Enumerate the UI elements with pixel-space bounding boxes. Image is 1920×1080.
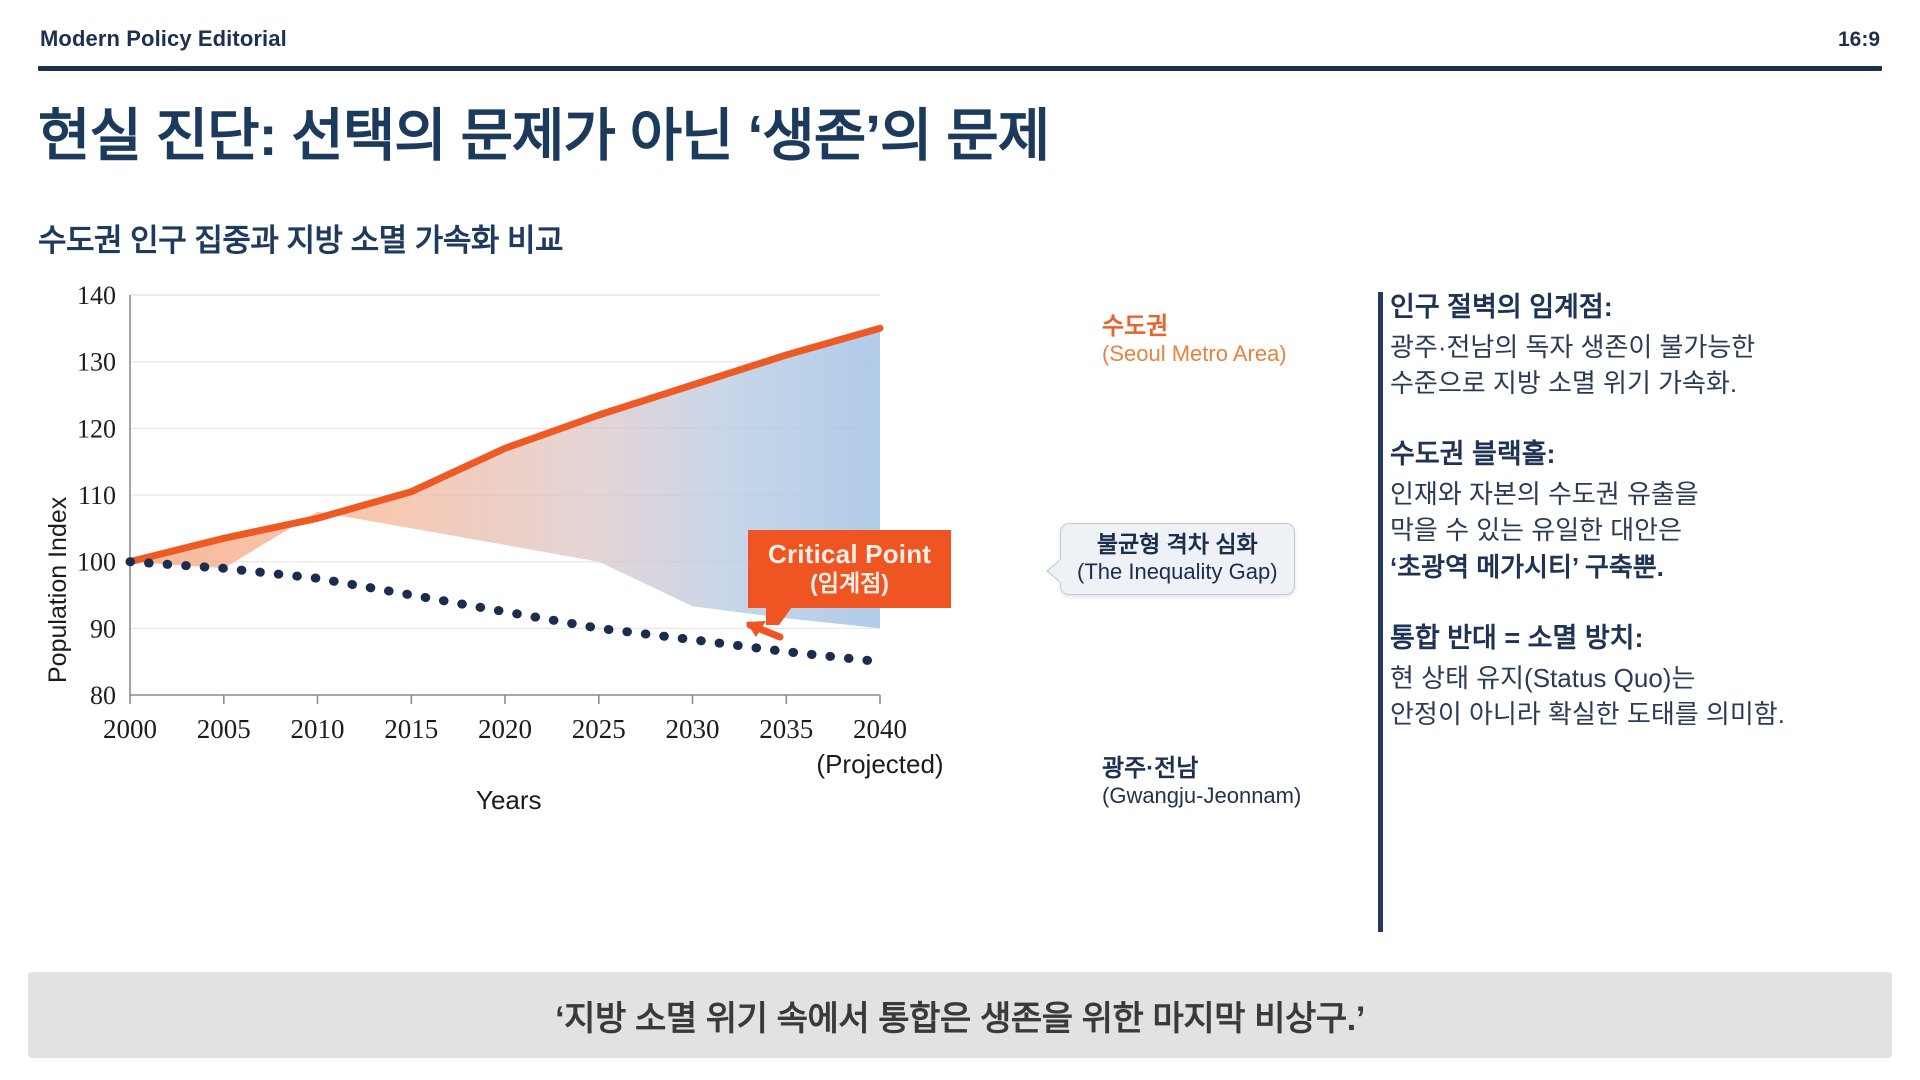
page-title: 현실 진단: 선택의 문제가 아닌 ‘생존’의 문제 — [38, 90, 1049, 172]
note-body: 인재와 자본의 수도권 유출을 막을 수 있는 유일한 대안은 ‘초광역 메가시… — [1390, 476, 1890, 585]
note-line: 막을 수 있는 유일한 대안은 — [1390, 512, 1890, 548]
x-tick-2010: 2010 — [291, 714, 345, 744]
series-label-seoul-metro-ko: 수도권 — [1102, 313, 1287, 341]
note-item: 수도권 블랙홀: 인재와 자본의 수도권 유출을 막을 수 있는 유일한 대안은… — [1390, 437, 1890, 585]
x-tick-2040: 2040 — [853, 714, 907, 744]
series-label-gwangju-jeonnam-ko: 광주·전남 — [1102, 755, 1301, 783]
y-tick-140: 140 — [77, 285, 116, 310]
x-axis-tick-labels: 2000 2005 2010 2015 2020 2025 2030 2035 … — [103, 714, 907, 744]
note-line: 수준으로 지방 소멸 위기 가속화. — [1390, 365, 1890, 401]
y-axis-tick-labels: 140 130 120 110 100 90 80 — [77, 285, 116, 710]
series-label-gwangju-jeonnam: 광주·전남 (Gwangju-Jeonnam) — [1102, 755, 1301, 809]
y-axis-title: Population Index — [44, 497, 73, 683]
note-title: 인구 절벽의 임계점: — [1390, 290, 1890, 325]
x-tick-2020: 2020 — [478, 714, 532, 744]
series-label-seoul-metro: 수도권 (Seoul Metro Area) — [1102, 313, 1287, 367]
note-body: 광주·전남의 독자 생존이 불가능한 수준으로 지방 소멸 위기 가속화. — [1390, 329, 1890, 402]
callout-inequality-gap: 불균형 격차 심화 (The Inequality Gap) — [1060, 523, 1295, 595]
page-subtitle: 수도권 인구 집중과 지방 소멸 가속화 비교 — [38, 215, 563, 260]
x-tick-2000: 2000 — [103, 714, 157, 744]
header-divider — [38, 66, 1882, 71]
note-title: 수도권 블랙홀: — [1390, 437, 1890, 472]
sidebar-accent-divider — [1378, 292, 1383, 932]
population-index-line-chart: 140 130 120 110 100 90 80 2000 — [40, 285, 1360, 935]
y-tick-80: 80 — [90, 681, 116, 710]
callout-critical-point: Critical Point (임계점) — [748, 530, 951, 608]
note-item: 인구 절벽의 임계점: 광주·전남의 독자 생존이 불가능한 수준으로 지방 소… — [1390, 290, 1890, 401]
callout-critical-point-en: Critical Point — [768, 539, 931, 570]
y-tick-130: 130 — [77, 348, 116, 377]
footer-quote: ‘지방 소멸 위기 속에서 통합은 생존을 위한 마지막 비상구.’ — [555, 991, 1365, 1040]
x-tick-2030: 2030 — [666, 714, 720, 744]
x-tick-2025: 2025 — [572, 714, 626, 744]
slide-header: Modern Policy Editorial 16:9 — [40, 26, 1880, 52]
y-tick-120: 120 — [77, 414, 116, 443]
footer-banner: ‘지방 소멸 위기 속에서 통합은 생존을 위한 마지막 비상구.’ — [28, 972, 1892, 1058]
aspect-ratio-label: 16:9 — [1838, 28, 1880, 52]
note-body: 현 상태 유지(Status Quo)는 안정이 아니라 확실한 도태를 의미함… — [1390, 660, 1890, 733]
y-tick-90: 90 — [90, 614, 116, 643]
x-tick-projected-note: (Projected) — [816, 749, 943, 779]
note-line: 안정이 아니라 확실한 도태를 의미함. — [1390, 696, 1890, 732]
x-tick-2015: 2015 — [384, 714, 438, 744]
callout-inequality-gap-en: (The Inequality Gap) — [1077, 559, 1278, 585]
chart-container: 140 130 120 110 100 90 80 2000 — [40, 285, 1360, 935]
callout-inequality-gap-ko: 불균형 격차 심화 — [1077, 531, 1278, 559]
series-label-gwangju-jeonnam-en: (Gwangju-Jeonnam) — [1102, 783, 1301, 809]
note-line: 현 상태 유지(Status Quo)는 — [1390, 660, 1890, 696]
note-line-emphasis: ‘초광역 메가시티’ 구축뿐. — [1390, 549, 1890, 585]
x-tick-2035: 2035 — [759, 714, 813, 744]
note-line: 인재와 자본의 수도권 유출을 — [1390, 476, 1890, 512]
brand-label: Modern Policy Editorial — [40, 26, 287, 52]
y-tick-110: 110 — [78, 481, 116, 510]
series-label-seoul-metro-en: (Seoul Metro Area) — [1102, 341, 1287, 367]
sidebar-notes: 인구 절벽의 임계점: 광주·전남의 독자 생존이 불가능한 수준으로 지방 소… — [1390, 290, 1890, 768]
slide-root: Modern Policy Editorial 16:9 현실 진단: 선택의 … — [0, 0, 1920, 1080]
note-item: 통합 반대 = 소멸 방치: 현 상태 유지(Status Quo)는 안정이 … — [1390, 621, 1890, 732]
note-line: 광주·전남의 독자 생존이 불가능한 — [1390, 329, 1890, 365]
note-title: 통합 반대 = 소멸 방치: — [1390, 621, 1890, 656]
callout-critical-point-ko: (임계점) — [768, 570, 931, 597]
x-tick-2005: 2005 — [197, 714, 251, 744]
x-axis-title: Years — [476, 785, 542, 816]
y-tick-100: 100 — [77, 548, 116, 577]
